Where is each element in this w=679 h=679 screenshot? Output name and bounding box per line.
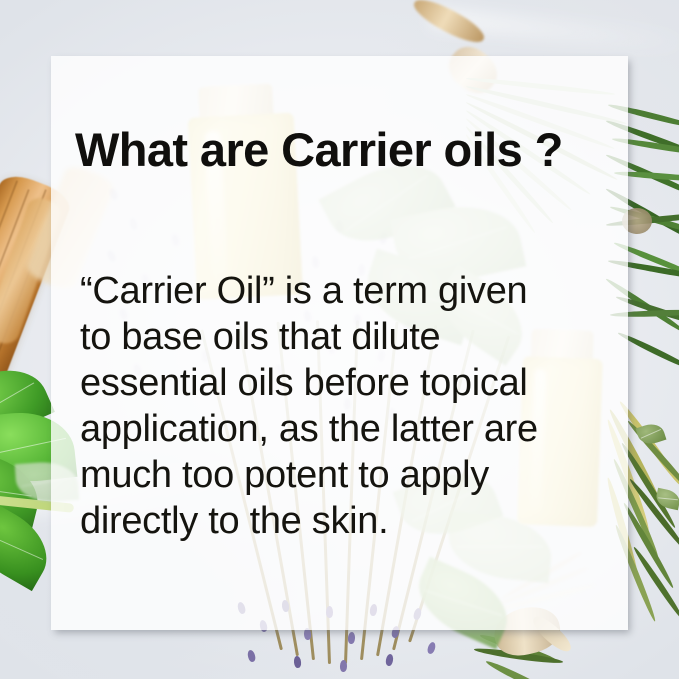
body-line: much too potent to apply [80, 452, 620, 498]
graphic-canvas: What are Carrier oils ? “Carrier Oil” is… [0, 0, 679, 679]
body-line: application, as the latter are [80, 406, 620, 452]
page-title: What are Carrier oils ? [75, 122, 563, 177]
body-paragraph: “Carrier Oil” is a term given to base oi… [80, 268, 620, 544]
body-line: directly to the skin. [80, 498, 620, 544]
body-line: essential oils before topical [80, 360, 620, 406]
content-layer: What are Carrier oils ? “Carrier Oil” is… [51, 56, 628, 630]
twine-tie [409, 0, 488, 49]
body-line: “Carrier Oil” is a term given [80, 268, 620, 314]
body-line: to base oils that dilute [80, 314, 620, 360]
